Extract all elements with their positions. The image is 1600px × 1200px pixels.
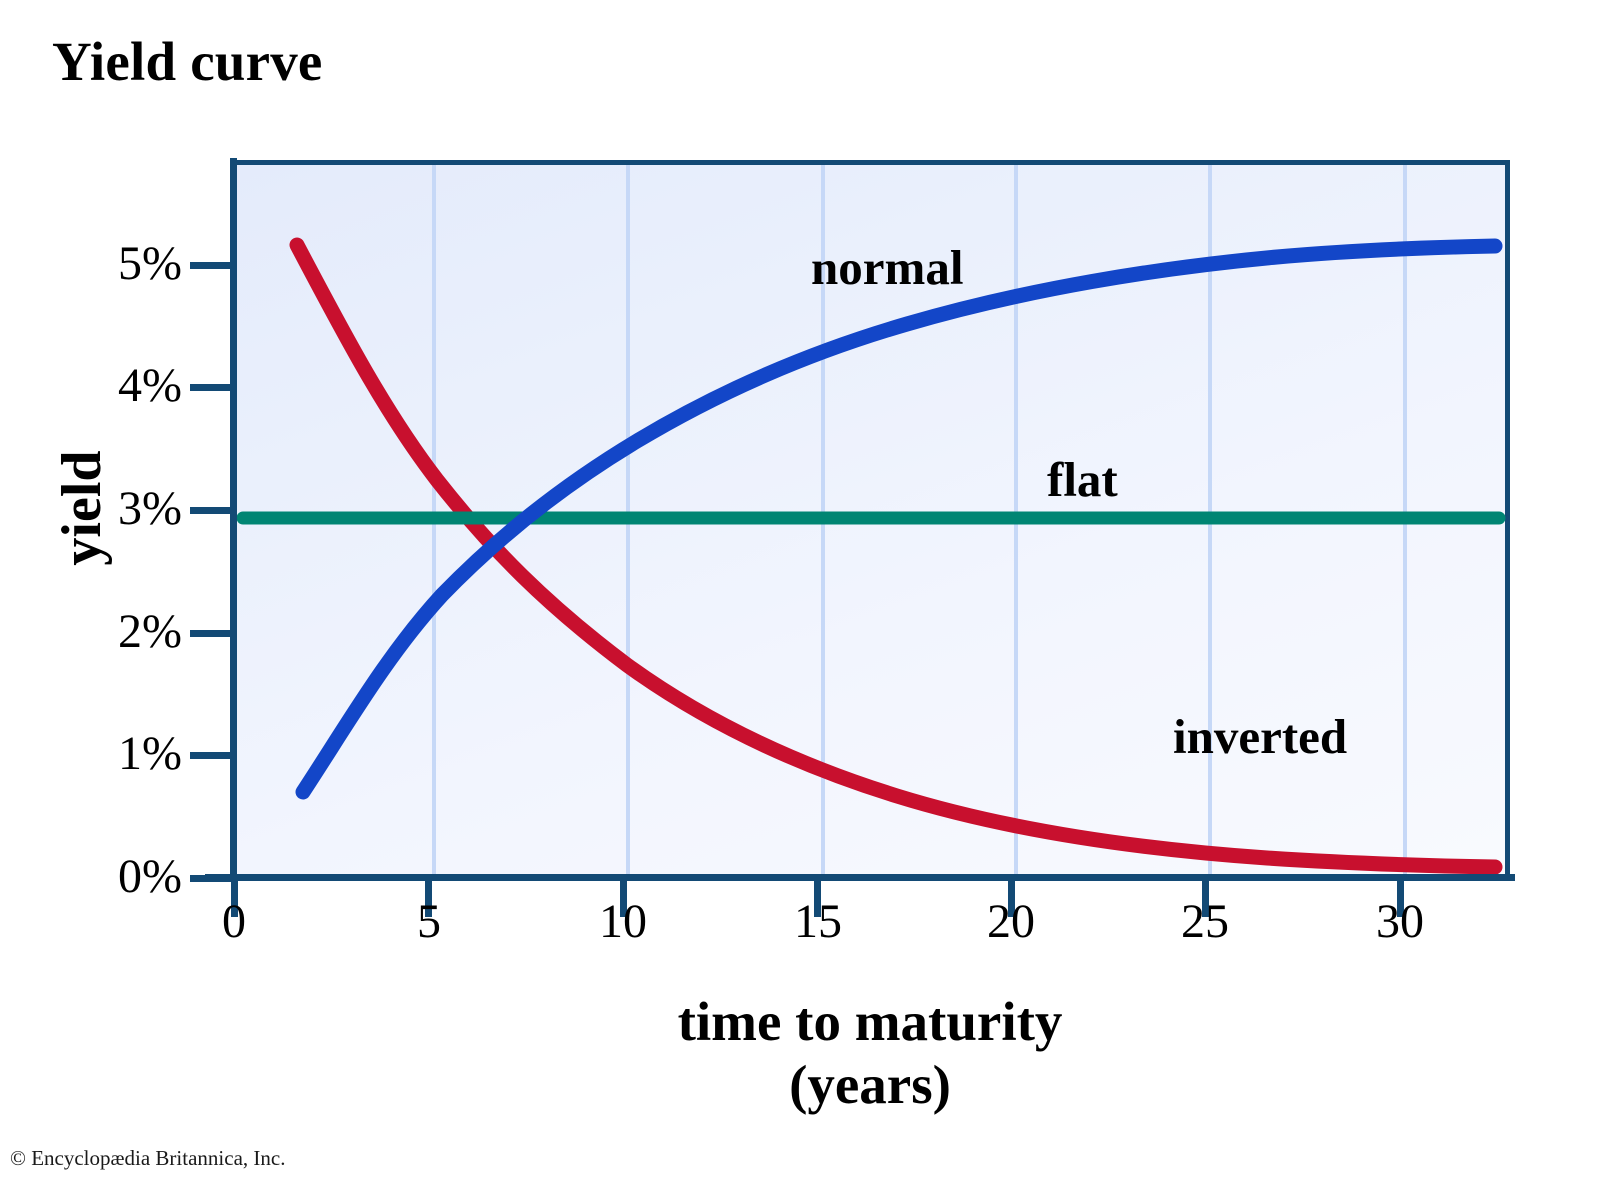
y-tick-4 bbox=[190, 384, 235, 391]
x-axis-title: time to maturity (years) bbox=[430, 990, 1310, 1117]
series-label-inverted: inverted bbox=[1173, 712, 1347, 761]
y-axis-title: yield bbox=[54, 378, 110, 638]
y-tick-label-5: 5% bbox=[62, 240, 182, 288]
y-tick-label-1: 1% bbox=[62, 730, 182, 778]
copyright-credit: © Encyclopædia Britannica, Inc. bbox=[10, 1148, 285, 1169]
y-tick-1 bbox=[190, 752, 235, 759]
y-tick-label-0: 0% bbox=[62, 853, 182, 901]
x-tick-label-10: 10 bbox=[563, 898, 683, 946]
series-label-normal: normal bbox=[811, 243, 963, 292]
y-tick-5 bbox=[190, 262, 235, 269]
x-tick-label-30: 30 bbox=[1340, 898, 1460, 946]
x-tick-label-5: 5 bbox=[369, 898, 489, 946]
x-tick-label-0: 0 bbox=[174, 898, 294, 946]
x-axis-title-line1: time to maturity bbox=[430, 990, 1310, 1053]
x-tick-label-20: 20 bbox=[951, 898, 1071, 946]
y-tick-3 bbox=[190, 507, 235, 514]
x-axis-title-line2: (years) bbox=[430, 1053, 1310, 1116]
x-tick-label-25: 25 bbox=[1145, 898, 1265, 946]
yield-curve-chart: normal flat inverted 5% 4% 3% 2% 1% 0% 0… bbox=[0, 0, 1600, 1200]
series-label-flat: flat bbox=[1047, 455, 1118, 504]
y-tick-2 bbox=[190, 630, 235, 637]
y-tick-0 bbox=[190, 875, 235, 882]
x-tick-label-15: 15 bbox=[758, 898, 878, 946]
plot-area: normal flat inverted bbox=[232, 160, 1510, 879]
x-axis-line bbox=[205, 874, 1515, 881]
